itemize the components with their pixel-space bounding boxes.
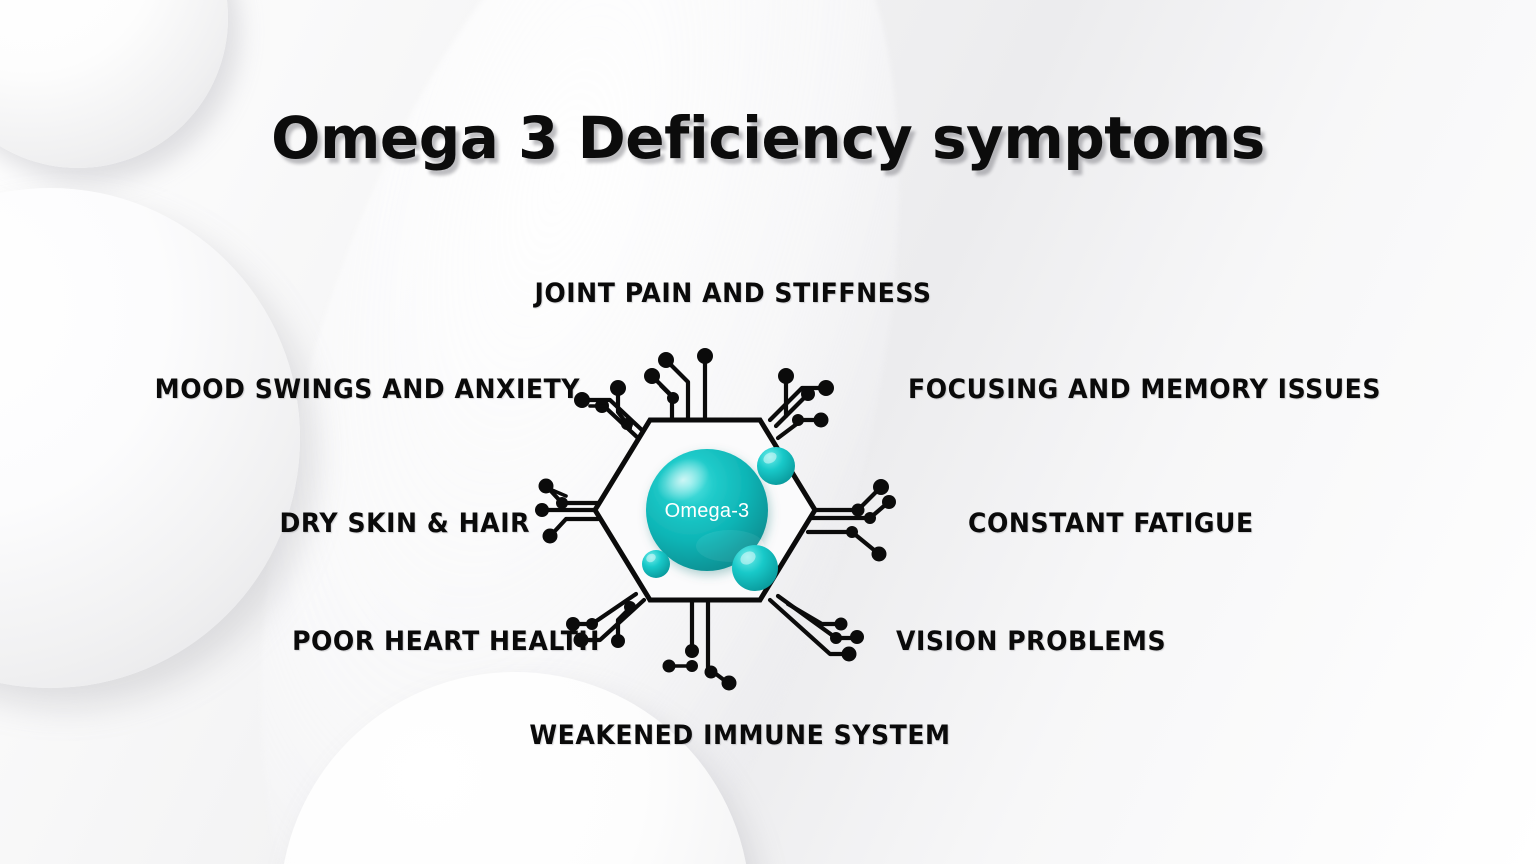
symptom-label-constant-fatigue: CONSTANT FATIGUE [968,508,1452,539]
symptom-label-weakened-immune-system: WEAKENED IMMUNE SYSTEM [331,720,1149,751]
omega3-bubble-left [642,550,670,578]
circuit-traces-lower-left [566,594,644,648]
omega3-hexagon-diagram: Omega-3 [540,320,980,700]
circuit-traces-bottom [663,600,737,691]
omega3-bubble-top-right [757,447,795,485]
circuit-traces-upper-right [770,368,834,438]
symptom-label-poor-heart-health: POOR HEART HEALTH [98,626,600,657]
circuit-traces-top [644,348,713,420]
omega3-sphere-label: Omega-3 [665,500,750,522]
circuit-traces-upper-left [574,380,644,438]
background-circle-left [0,188,300,688]
circuit-traces-right [808,479,896,562]
circuit-traces-lower-right [770,596,864,662]
symptom-label-mood-swings-and-anxiety: MOOD SWINGS AND ANXIETY [96,374,580,405]
infographic-canvas: Omega 3 Deficiency symptoms JOINT PAIN A… [0,0,1536,864]
circuit-traces-left [535,479,598,544]
omega3-bubble-bottom-right [732,545,778,591]
page-title: Omega 3 Deficiency symptoms [0,104,1536,172]
symptom-label-joint-pain-and-stiffness: JOINT PAIN AND STIFFNESS [324,278,1142,309]
symptom-label-dry-skin-and-hair: DRY SKIN & HAIR [93,508,530,539]
symptom-label-focusing-and-memory-issues: FOCUSING AND MEMORY ISSUES [908,374,1429,405]
